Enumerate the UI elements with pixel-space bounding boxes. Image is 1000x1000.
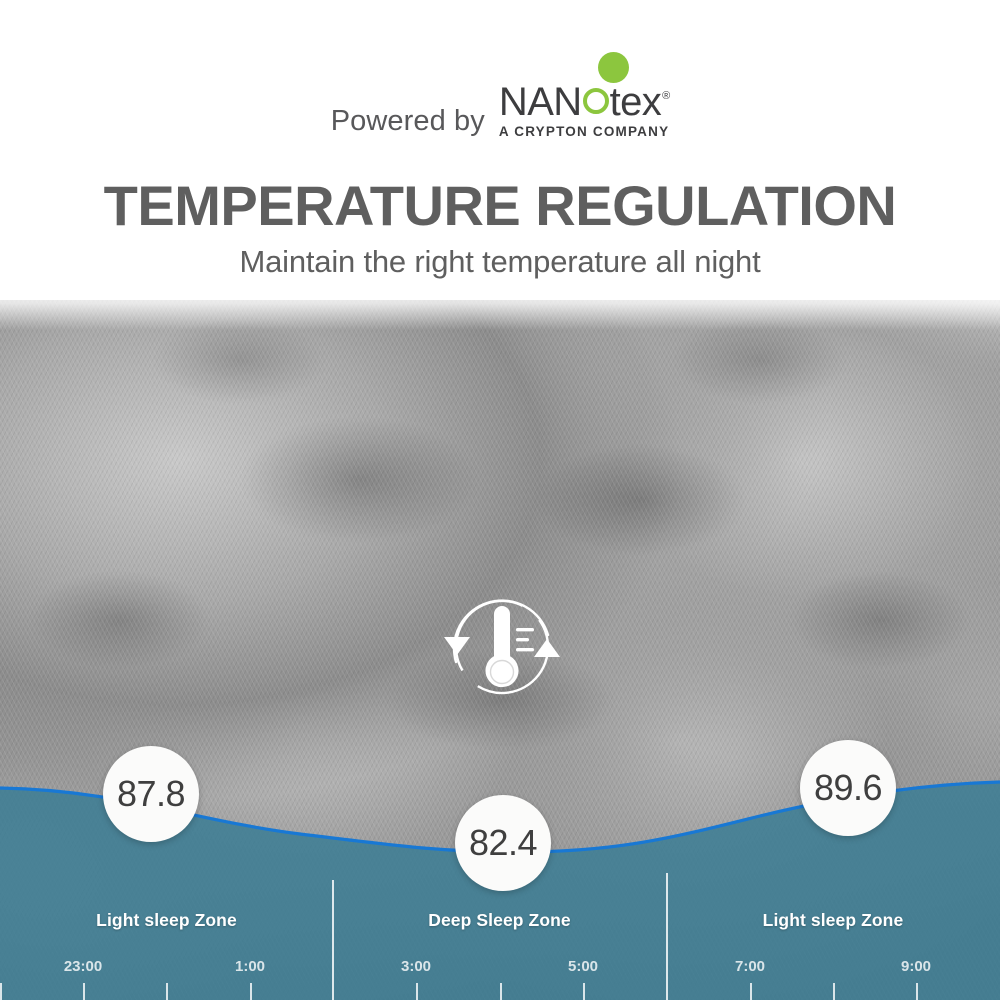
registered-trademark-icon: ®: [662, 91, 670, 102]
zone-divider-left: [332, 880, 334, 1000]
temperature-badge-center: 82.4: [455, 795, 551, 891]
logo-green-dot-icon: [598, 52, 629, 83]
page-subtitle: Maintain the right temperature all night: [0, 243, 1000, 280]
axis-tick: [250, 983, 252, 1000]
logo-green-ring-icon: [583, 88, 609, 114]
page-title: TEMPERATURE REGULATION: [0, 178, 1000, 234]
temperature-regulation-icon: [428, 588, 576, 706]
axis-label-2300: 23:00: [38, 958, 128, 975]
axis-tick: [750, 983, 752, 1000]
nanotex-wordmark: NAN tex ®: [499, 82, 669, 122]
marketing-image: Powered by NAN tex ® A CRYPTON COMPANY T…: [0, 0, 1000, 1000]
temperature-badge-left: 87.8: [103, 746, 199, 842]
temperature-value-center: 82.4: [455, 795, 551, 891]
axis-tick: [0, 983, 2, 1000]
nanotex-logo: NAN tex ® A CRYPTON COMPANY: [499, 82, 669, 139]
axis-label-0700: 7:00: [705, 958, 795, 975]
axis-label-0100: 1:00: [205, 958, 295, 975]
axis-tick: [416, 983, 418, 1000]
zone-divider-right: [666, 873, 668, 1000]
zone-label-deep-sleep: Deep Sleep Zone: [333, 910, 666, 931]
axis-tick: [500, 983, 502, 1000]
logo-text-nan: NAN: [499, 82, 582, 122]
axis-tick: [166, 983, 168, 1000]
logo-text-tex: tex: [610, 82, 662, 122]
axis-tick: [833, 983, 835, 1000]
axis-label-0900: 9:00: [871, 958, 961, 975]
brand-lockup: Powered by NAN tex ® A CRYPTON COMPANY: [0, 82, 1000, 139]
axis-label-0500: 5:00: [538, 958, 628, 975]
temperature-value-left: 87.8: [103, 746, 199, 842]
powered-by-label: Powered by: [331, 107, 485, 139]
zone-label-light-sleep-right: Light sleep Zone: [666, 910, 1000, 931]
axis-tick: [916, 983, 918, 1000]
axis-tick: [583, 983, 585, 1000]
axis-tick: [83, 983, 85, 1000]
logo-tagline: A CRYPTON COMPANY: [499, 124, 669, 139]
zone-label-light-sleep-left: Light sleep Zone: [0, 910, 333, 931]
axis-label-0300: 3:00: [371, 958, 461, 975]
temperature-badge-right: 89.6: [800, 740, 896, 836]
header: Powered by NAN tex ® A CRYPTON COMPANY T…: [0, 0, 1000, 300]
temperature-value-right: 89.6: [800, 740, 896, 836]
